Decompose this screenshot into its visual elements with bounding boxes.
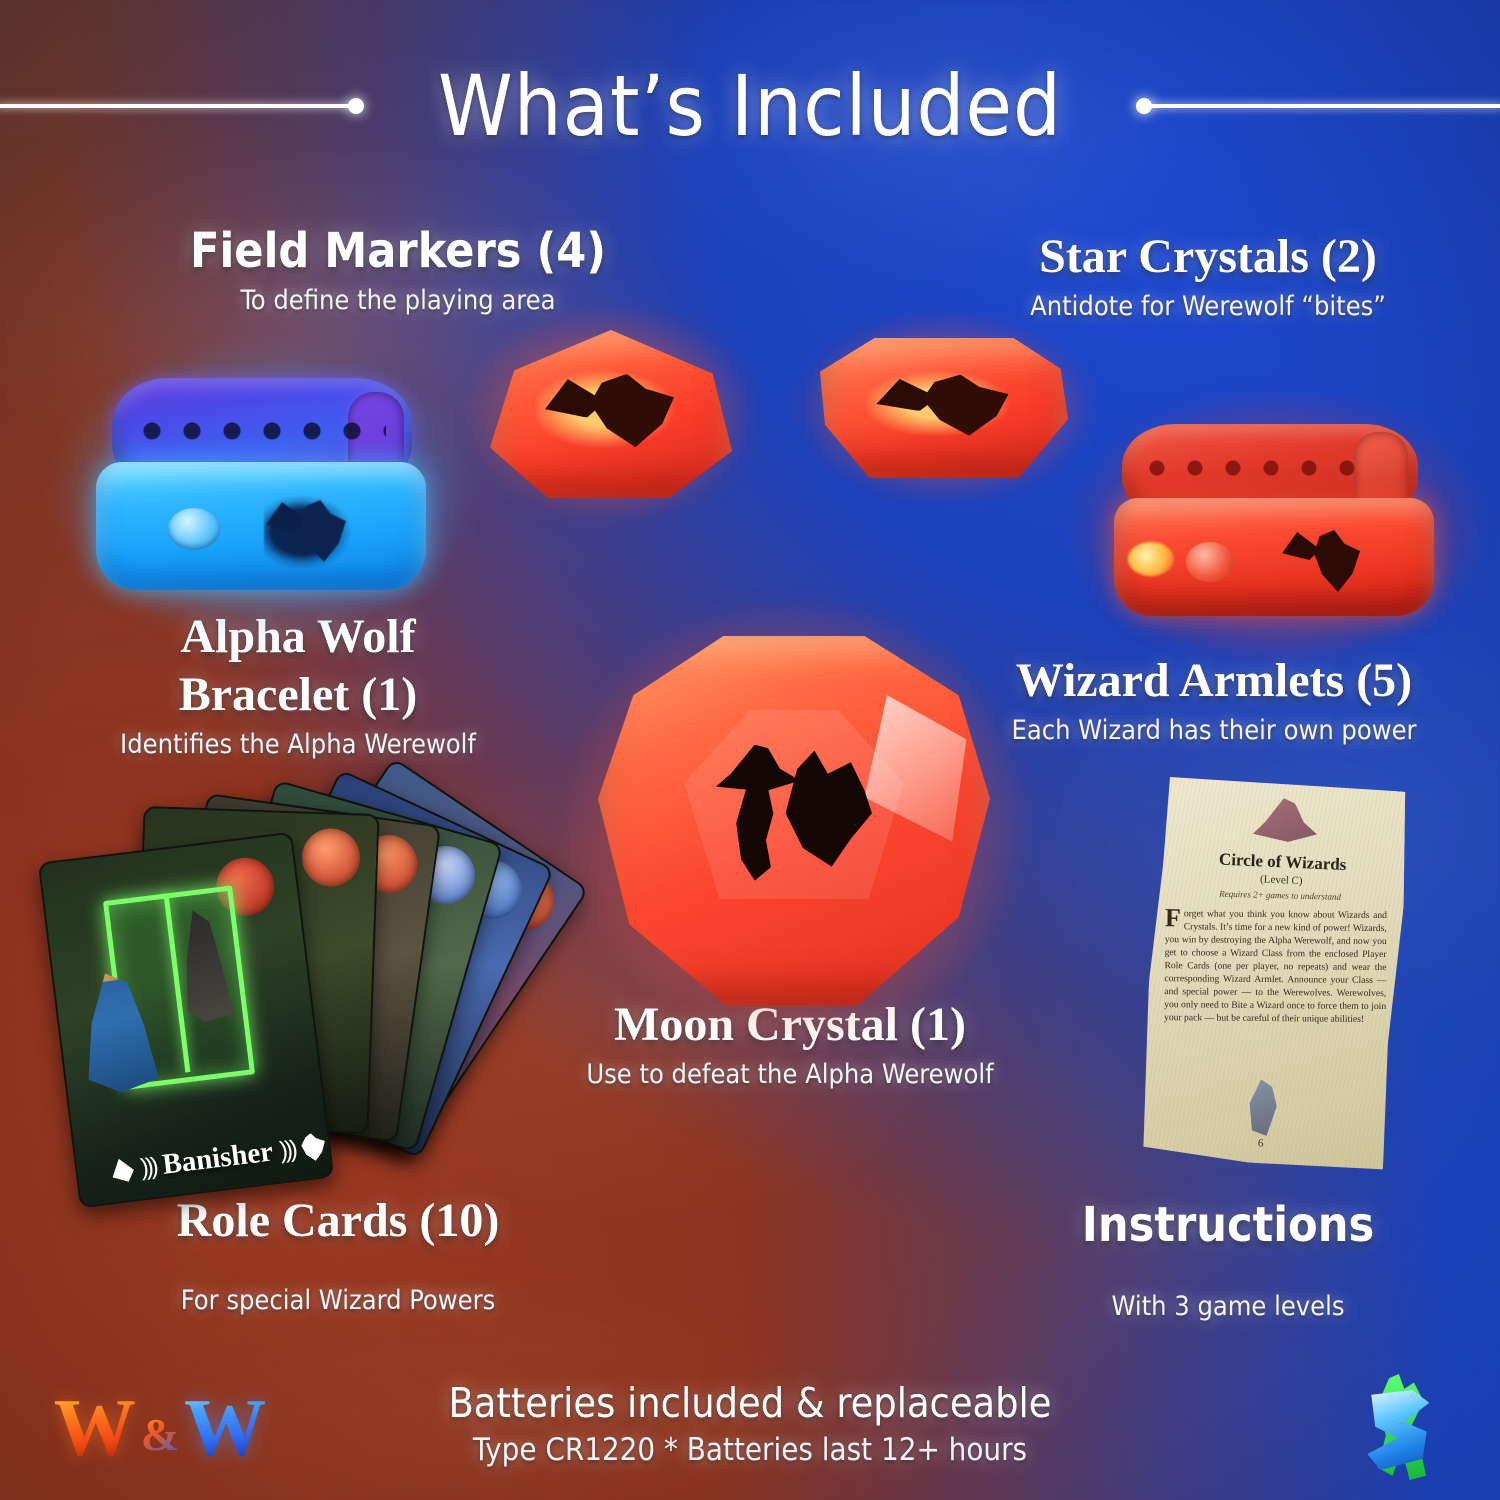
instructions-sheet-photo: Circle of Wizards (Level C) Requires 2+ … — [1135, 773, 1412, 1173]
sheet-paragraph: orget what you think you know about Wiza… — [1164, 908, 1387, 1025]
header: What’s Included — [0, 56, 1500, 156]
s-ribbon-icon — [1366, 1390, 1432, 1470]
logo-ampersand: & — [141, 1412, 179, 1458]
label-wizard-armlets: Wizard Armlets (5) Each Wizard has their… — [940, 652, 1488, 748]
witch-wolf-emblem-icon — [1282, 528, 1362, 598]
witch-wolf-emblem-icon — [867, 369, 1021, 442]
witch-face-icon — [730, 785, 792, 881]
wolf-icon — [300, 1132, 327, 1163]
moon-crystal-subtitle: Use to defeat the Alpha Werewolf — [520, 1058, 1060, 1092]
instructions-subtitle: With 3 game levels — [1008, 1290, 1448, 1324]
logo-letter-w-ice: W — [184, 1387, 266, 1469]
wolf-head-icon — [776, 751, 872, 867]
witch-wolf-emblem-icon — [536, 367, 686, 454]
bracelet-button — [168, 508, 220, 550]
armlet-light-module — [1114, 498, 1434, 616]
ww-brand-logo: W & W — [52, 1376, 268, 1480]
moon-crystal-photo — [598, 636, 990, 1006]
sound-wave-right-icon: ))) — [278, 1135, 296, 1165]
sheet-page-number: 6 — [1257, 1137, 1263, 1149]
wolf-bark-icon — [110, 1157, 135, 1184]
star-crystals-subtitle: Antidote for Werewolf “bites” — [938, 290, 1478, 324]
label-instructions: Instructions With 3 game levels — [1008, 1196, 1448, 1324]
sheet-dropcap: F — [1165, 907, 1184, 929]
infographic-canvas: What’s Included Field Markers (4) To def… — [0, 0, 1500, 1500]
alpha-bracelet-subtitle: Identifies the Alpha Werewolf — [48, 728, 548, 762]
instruction-sheet: Circle of Wizards (Level C) Requires 2+ … — [1135, 773, 1412, 1173]
sound-wave-left-icon: ))) — [139, 1152, 157, 1182]
witch-wolf-emblem-icon — [264, 496, 350, 568]
card-title-row: ))) Banisher ))) — [110, 1129, 328, 1188]
wizard-armlet-photo — [1098, 420, 1456, 632]
sheet-body-text: Forget what you think you know about Wiz… — [1164, 907, 1387, 1026]
field-marker-photo — [490, 330, 732, 498]
star-crystal-body — [820, 338, 1068, 478]
armlet-led-icon — [1128, 542, 1174, 576]
label-star-crystals: Star Crystals (2) Antidote for Werewolf … — [938, 228, 1478, 324]
role-cards-photo: ))) Banisher ))) — [46, 790, 516, 1190]
wizard-armlets-heading: Wizard Armlets (5) — [940, 652, 1488, 710]
logo-letter-w-fire: W — [54, 1387, 136, 1469]
star-crystal-photo — [820, 338, 1068, 478]
wizard-armlets-subtitle: Each Wizard has their own power — [940, 714, 1488, 748]
card-title: Banisher — [161, 1136, 275, 1182]
publisher-logo — [1352, 1374, 1448, 1482]
header-rule-right-icon — [1144, 104, 1500, 108]
role-card-front: ))) Banisher ))) — [38, 832, 335, 1209]
role-cards-subtitle: For special Wizard Powers — [78, 1284, 598, 1318]
card-moon-icon — [301, 828, 361, 888]
label-role-cards: Role Cards (10) For special Wizard Power… — [78, 1192, 598, 1318]
witch-wolf-emblem-icon — [714, 739, 874, 889]
star-crystals-heading: Star Crystals (2) — [938, 228, 1478, 286]
field-markers-heading: Field Markers (4) — [118, 222, 678, 280]
bracelet-light-module — [96, 462, 426, 590]
role-cards-heading: Role Cards (10) — [78, 1192, 598, 1250]
instructions-heading: Instructions — [1008, 1196, 1448, 1254]
label-field-markers: Field Markers (4) To define the playing … — [118, 222, 678, 318]
alpha-bracelet-heading-line2: Bracelet (1) — [48, 666, 548, 724]
armlet-button — [1186, 542, 1234, 582]
alpha-wolf-bracelet-photo — [78, 370, 448, 610]
